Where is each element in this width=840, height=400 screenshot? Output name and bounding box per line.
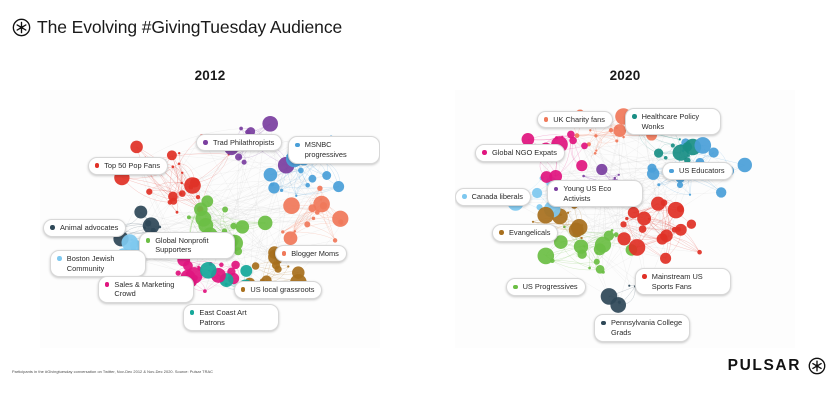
asterisk-in-circle-icon — [12, 18, 31, 37]
graph-node — [283, 197, 300, 214]
graph-node — [287, 265, 289, 267]
graph-node — [176, 270, 181, 275]
cluster-label-canada-liberals[interactable]: Canada liberals — [455, 188, 531, 206]
graph-node — [184, 177, 201, 194]
cluster-color-dot — [57, 256, 62, 261]
cluster-label-us-local-grassroots[interactable]: US local grassroots — [234, 281, 323, 299]
cluster-label-text: US Progressives — [523, 282, 578, 292]
cluster-color-dot — [499, 230, 504, 235]
graph-node — [594, 152, 597, 155]
cluster-color-dot — [95, 163, 100, 168]
graph-node — [738, 158, 752, 172]
graph-node — [195, 211, 211, 227]
cluster-label-text: US local grassroots — [250, 285, 314, 295]
graph-node — [614, 232, 619, 237]
graph-node — [697, 250, 702, 255]
graph-node — [620, 221, 626, 227]
cluster-color-dot — [203, 140, 208, 145]
cluster-label-text: Pennsylvania College Grads — [611, 318, 682, 337]
pulsar-wordmark: PULSAR — [728, 357, 801, 375]
cluster-label-text: Sales & Marketing Crowd — [114, 280, 185, 299]
graph-node — [178, 162, 181, 165]
cluster-color-dot — [554, 187, 559, 192]
cluster-label-text: Trad Philathropists — [213, 138, 274, 148]
cluster-label-text: Evangelicals — [509, 228, 551, 238]
cluster-label-global-ngo-expats[interactable]: Global NGO Expats — [475, 144, 565, 162]
network-graph-2020[interactable]: UK Charity fansHealthcare Policy WonksGl… — [455, 90, 795, 348]
graph-node — [537, 207, 554, 224]
cluster-color-dot — [601, 321, 606, 326]
graph-node — [647, 168, 659, 180]
graph-node — [660, 253, 671, 264]
cluster-label-us-progressives[interactable]: US Progressives — [506, 278, 586, 296]
graph-node — [187, 215, 191, 219]
graph-node — [236, 220, 249, 233]
graph-node — [625, 217, 628, 220]
cluster-label-text: UK Charity fans — [553, 115, 605, 125]
graph-node — [262, 116, 278, 132]
charts-container: 2012 Top 50 Pop FansTrad PhilathropistsM… — [0, 60, 840, 350]
graph-node — [333, 238, 337, 242]
graph-node — [200, 262, 217, 279]
graph-node — [258, 216, 273, 231]
cluster-label-text: Healthcare Policy Wonks — [642, 112, 713, 131]
graph-node — [580, 237, 582, 239]
graph-node — [532, 221, 534, 223]
cluster-color-dot — [642, 274, 647, 279]
cluster-label-evangelicals[interactable]: Evangelicals — [492, 224, 558, 242]
cluster-color-dot — [482, 150, 487, 155]
cluster-label-text: Blogger Moms — [291, 249, 339, 259]
graph-node — [240, 265, 252, 277]
cluster-color-dot — [632, 114, 637, 119]
graph-node — [532, 188, 542, 198]
graph-node — [618, 232, 631, 245]
cluster-label-uk-charity-fans[interactable]: UK Charity fans — [537, 111, 613, 129]
graph-node — [589, 129, 591, 131]
cluster-label-text: US Educators — [679, 166, 725, 176]
graph-node — [130, 141, 143, 154]
graph-node — [567, 212, 569, 214]
cluster-label-east-coast-art-patrons[interactable]: East Coast Art Patrons — [183, 304, 279, 331]
graph-node — [203, 289, 207, 293]
graph-node — [242, 160, 247, 165]
cluster-color-dot — [544, 117, 549, 122]
graph-node — [231, 261, 240, 270]
cluster-label-trad-philathropists[interactable]: Trad Philathropists — [196, 134, 282, 152]
graph-node — [588, 267, 591, 270]
cluster-color-dot — [295, 143, 300, 148]
cluster-color-dot — [146, 238, 151, 243]
cluster-label-text: Canada liberals — [472, 192, 523, 202]
cluster-label-blogger-moms[interactable]: Blogger Moms — [275, 245, 347, 263]
graph-node — [575, 133, 580, 138]
graph-node — [167, 150, 177, 160]
graph-node — [309, 175, 317, 183]
pulsar-logo: PULSAR — [728, 357, 826, 375]
cluster-label-text: Top 50 Pop Fans — [104, 161, 160, 171]
graph-node — [181, 172, 183, 174]
graph-node — [196, 195, 200, 199]
cluster-label-healthcare-policy-wonks[interactable]: Healthcare Policy Wonks — [625, 108, 721, 135]
graph-node — [179, 190, 186, 197]
graph-node — [679, 138, 681, 140]
graph-node — [284, 231, 298, 245]
graph-node — [657, 183, 660, 186]
graph-node — [222, 207, 228, 213]
cluster-label-text: Young US Eco Activists — [563, 184, 634, 203]
cluster-label-mainstream-us-sports-fans[interactable]: Mainstream US Sports Fans — [635, 268, 731, 295]
cluster-label-text: Global NGO Expats — [492, 148, 557, 158]
graph-node — [168, 192, 178, 202]
cluster-label-text: MSNBC progressives — [305, 140, 372, 159]
graph-node — [219, 263, 224, 268]
graph-node — [622, 136, 624, 138]
graph-node — [571, 219, 588, 236]
graph-node — [637, 212, 651, 226]
graph-node — [298, 168, 304, 174]
cluster-label-animal-advocates[interactable]: Animal advocates — [43, 219, 126, 237]
graph-node — [134, 206, 147, 219]
graph-node — [614, 177, 616, 179]
graph-node — [281, 230, 284, 233]
graph-node — [305, 183, 310, 188]
graph-node — [581, 143, 588, 150]
graph-node — [595, 149, 597, 151]
graph-node — [239, 127, 243, 131]
chart-panel-2020: 2020 UK Charity fansHealthcare Policy Wo… — [455, 60, 795, 350]
graph-node — [664, 156, 668, 160]
graph-node — [304, 221, 310, 227]
graph-node — [595, 237, 611, 253]
cluster-color-dot — [282, 251, 287, 256]
graph-node — [660, 229, 673, 242]
graph-node — [671, 143, 675, 147]
graph-node — [312, 217, 315, 220]
cluster-color-dot — [669, 169, 674, 174]
graph-node — [596, 265, 605, 274]
cluster-label-text: Animal advocates — [60, 223, 118, 233]
cluster-color-dot — [105, 282, 110, 287]
cluster-label-us-educators[interactable]: US Educators — [662, 162, 732, 180]
graph-node — [176, 211, 179, 214]
asterisk-in-circle-icon — [808, 357, 826, 375]
graph-node — [628, 285, 630, 287]
cluster-color-dot — [50, 225, 55, 230]
graph-node — [596, 164, 607, 175]
graph-node — [264, 168, 278, 182]
cluster-label-global-nonprofit-supporters[interactable]: Global Nonprofit Supporters — [139, 232, 235, 259]
cluster-label-text: Boston Jewish Community — [67, 254, 138, 273]
graph-node — [295, 195, 297, 197]
graph-node — [594, 134, 597, 137]
graph-node — [615, 139, 618, 142]
graph-node — [563, 226, 565, 228]
cluster-color-dot — [513, 285, 518, 290]
graph-node — [689, 194, 691, 196]
source-footnote: Participants in the #Givingtuesday conve… — [12, 369, 213, 375]
cluster-label-top-50-pop-fans[interactable]: Top 50 Pop Fans — [88, 157, 168, 175]
cluster-label-text: Global Nonprofit Supporters — [155, 236, 226, 255]
chart-title-2012: 2012 — [40, 68, 380, 83]
graph-node — [178, 152, 180, 154]
network-graph-2012[interactable]: Top 50 Pop FansTrad PhilathropistsMSNBC … — [40, 90, 380, 348]
cluster-label-msnbc-progressives[interactable]: MSNBC progressives — [288, 136, 380, 163]
graph-node — [576, 160, 587, 171]
graph-node — [322, 171, 331, 180]
graph-node — [181, 182, 183, 184]
graph-node — [677, 182, 683, 188]
cluster-label-text: Mainstream US Sports Fans — [652, 272, 723, 291]
graph-node — [654, 149, 663, 158]
graph-node — [332, 211, 348, 227]
cluster-label-text: East Coast Art Patrons — [199, 308, 270, 327]
graph-node — [146, 189, 152, 195]
graph-node — [574, 239, 588, 253]
graph-node — [668, 202, 685, 219]
cluster-color-dot — [241, 287, 246, 292]
graph-node — [695, 137, 712, 154]
graph-node — [567, 131, 575, 139]
graph-node — [675, 224, 687, 236]
graph-node — [538, 248, 555, 265]
cluster-label-young-us-eco-activists[interactable]: Young US Eco Activists — [547, 180, 643, 207]
graph-node — [172, 165, 175, 168]
graph-node — [594, 259, 600, 265]
graph-node — [333, 181, 344, 192]
page-header: The Evolving #GivingTuesday Audience — [12, 17, 342, 38]
cluster-color-dot — [190, 310, 195, 315]
graph-node — [687, 220, 696, 229]
graph-node — [601, 288, 618, 305]
graph-node — [716, 187, 726, 197]
cluster-color-dot — [462, 194, 467, 199]
graph-node — [618, 174, 620, 176]
graph-node — [609, 128, 613, 132]
graph-node — [313, 196, 330, 213]
graph-node — [268, 182, 279, 193]
graph-node — [252, 262, 260, 270]
graph-node — [582, 175, 585, 178]
graph-node — [629, 239, 646, 256]
graph-node — [122, 234, 139, 251]
cluster-label-boston-jewish-community[interactable]: Boston Jewish Community — [50, 250, 146, 277]
graph-node — [639, 225, 647, 233]
graph-node — [651, 197, 665, 211]
graph-node — [280, 189, 283, 192]
page-title: The Evolving #GivingTuesday Audience — [37, 17, 342, 38]
cluster-label-sales-marketing-crowd[interactable]: Sales & Marketing Crowd — [98, 276, 194, 303]
graph-node — [317, 186, 322, 191]
graph-node — [235, 153, 242, 160]
chart-title-2020: 2020 — [455, 68, 795, 83]
cluster-label-pennsylvania-college-grads[interactable]: Pennsylvania College Grads — [594, 314, 690, 341]
chart-panel-2012: 2012 Top 50 Pop FansTrad PhilathropistsM… — [40, 60, 380, 350]
